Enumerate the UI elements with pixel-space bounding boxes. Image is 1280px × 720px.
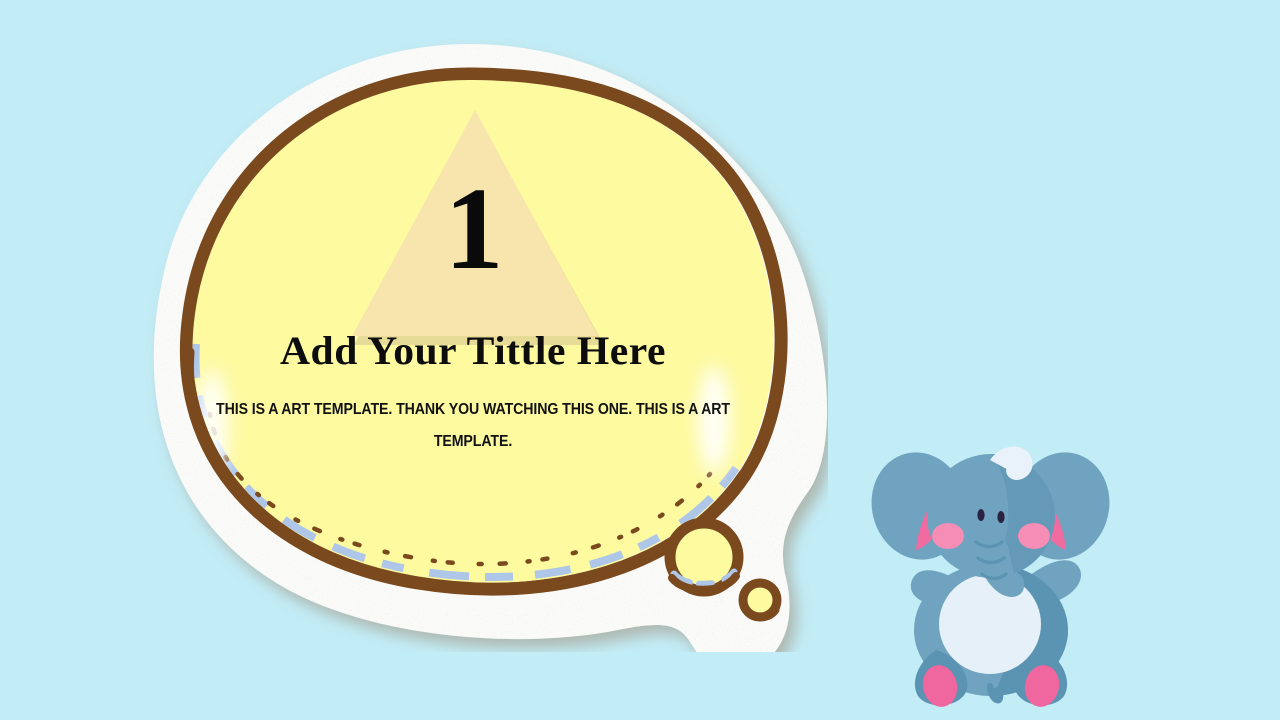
bubble-tail-large bbox=[670, 523, 738, 591]
bubble-tail-small bbox=[743, 583, 777, 618]
elephant-belly bbox=[939, 574, 1041, 674]
elephant-tail bbox=[990, 686, 1000, 700]
slide-canvas: 1 Add Your Tittle Here THIS IS A ART TEM… bbox=[0, 0, 1280, 720]
baby-elephant-icon bbox=[866, 428, 1116, 710]
thought-bubble[interactable]: 1 Add Your Tittle Here THIS IS A ART TEM… bbox=[118, 22, 828, 652]
